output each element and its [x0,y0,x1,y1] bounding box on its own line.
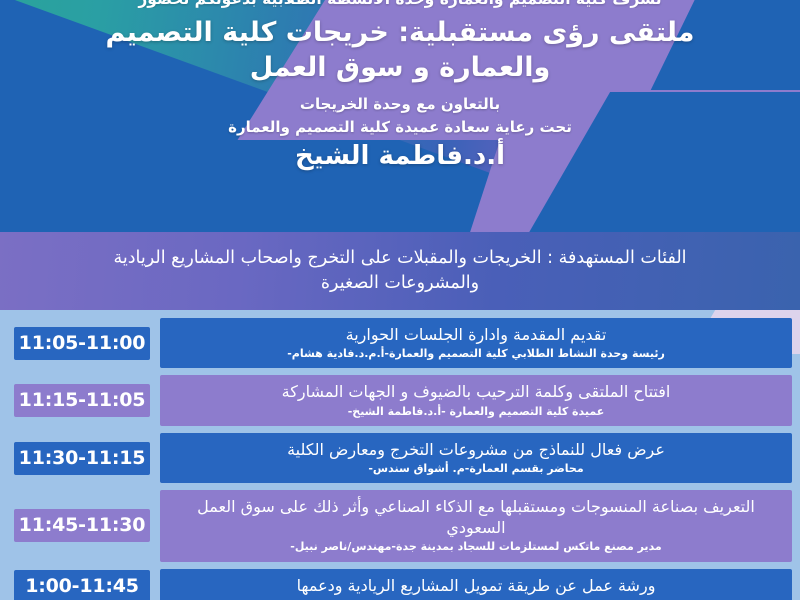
schedule-row-body: ورشة عمل عن طريقة تمويل المشاريع الريادي… [160,569,792,600]
schedule-row-title: افتتاح الملتقى وكلمة الترحيب بالضيوف و ا… [174,381,778,402]
schedule-row[interactable]: عرض فعال للنماذج من مشروعات التخرج ومعار… [0,433,800,483]
collaboration-text: بالتعاون مع وحدة الخريجات [26,94,774,115]
schedule-row-time: 11:05-11:00 [14,327,150,360]
schedule-row-speaker: عميدة كلية التصميم والعمارة -أ.د.فاطمة ا… [174,405,778,419]
invitation-kicker: تشرف كلية التصميم والعمارة وحدة الأنشطة … [26,0,774,8]
target-audience-banner: الفئات المستهدفة : الخريجات والمقبلات عل… [0,232,800,310]
header-text-block: تشرف كلية التصميم والعمارة وحدة الأنشطة … [0,0,800,232]
schedule-row-speaker: مدير مصنع ماتكس لمستلزمات للسجاد بمدينة … [174,540,778,554]
schedule-row-time: 11:15-11:05 [14,384,150,417]
poster-header: تشرف كلية التصميم والعمارة وحدة الأنشطة … [0,0,800,232]
audience-text-wrap: الفئات المستهدفة : الخريجات والمقبلات عل… [113,246,686,297]
schedule-row[interactable]: تقديم المقدمة وادارة الجلسات الحوارية رئ… [0,318,800,368]
schedule-row[interactable]: ورشة عمل عن طريقة تمويل المشاريع الريادي… [0,569,800,600]
schedule-row-title: تقديم المقدمة وادارة الجلسات الحوارية [174,324,778,345]
schedule-row-body: عرض فعال للنماذج من مشروعات التخرج ومعار… [160,433,792,483]
audience-line-2: والمشروعات الصغيرة [113,271,686,296]
patron-name: أ.د.فاطمة الشيخ [26,142,774,172]
schedule-row-speaker: محاضر بقسم العمارة-م. أشواق سندس- [174,462,778,476]
schedule-list: تقديم المقدمة وادارة الجلسات الحوارية رئ… [0,310,800,600]
audience-line-1: الفئات المستهدفة : الخريجات والمقبلات عل… [113,246,686,271]
schedule-row-time: 1:00-11:45 [14,570,150,600]
schedule-row-body: تقديم المقدمة وادارة الجلسات الحوارية رئ… [160,318,792,368]
title-line-2: والعمارة و سوق العمل [26,50,774,85]
page-title: ملتقى رؤى مستقبلية: خريجات كلية التصميم … [26,15,774,85]
schedule-row[interactable]: التعريف بصناعة المنسوجات ومستقبلها مع ال… [0,490,800,562]
patronage-text: تحت رعاية سعادة عميدة كلية التصميم والعم… [26,117,774,138]
schedule-row-title: عرض فعال للنماذج من مشروعات التخرج ومعار… [174,439,778,460]
schedule-row-body: التعريف بصناعة المنسوجات ومستقبلها مع ال… [160,490,792,562]
schedule-row-speaker: رئيسة وحدة النشاط الطلابي كلية التصميم و… [174,347,778,361]
event-poster: تشرف كلية التصميم والعمارة وحدة الأنشطة … [0,0,800,600]
title-line-1: ملتقى رؤى مستقبلية: خريجات كلية التصميم [26,15,774,50]
schedule-row-body: افتتاح الملتقى وكلمة الترحيب بالضيوف و ا… [160,375,792,425]
schedule-row-time: 11:30-11:15 [14,442,150,475]
schedule-row-time: 11:45-11:30 [14,509,150,542]
schedule-row-title: ورشة عمل عن طريقة تمويل المشاريع الريادي… [174,575,778,596]
schedule-row-title: التعريف بصناعة المنسوجات ومستقبلها مع ال… [174,496,778,538]
schedule-row[interactable]: افتتاح الملتقى وكلمة الترحيب بالضيوف و ا… [0,375,800,425]
